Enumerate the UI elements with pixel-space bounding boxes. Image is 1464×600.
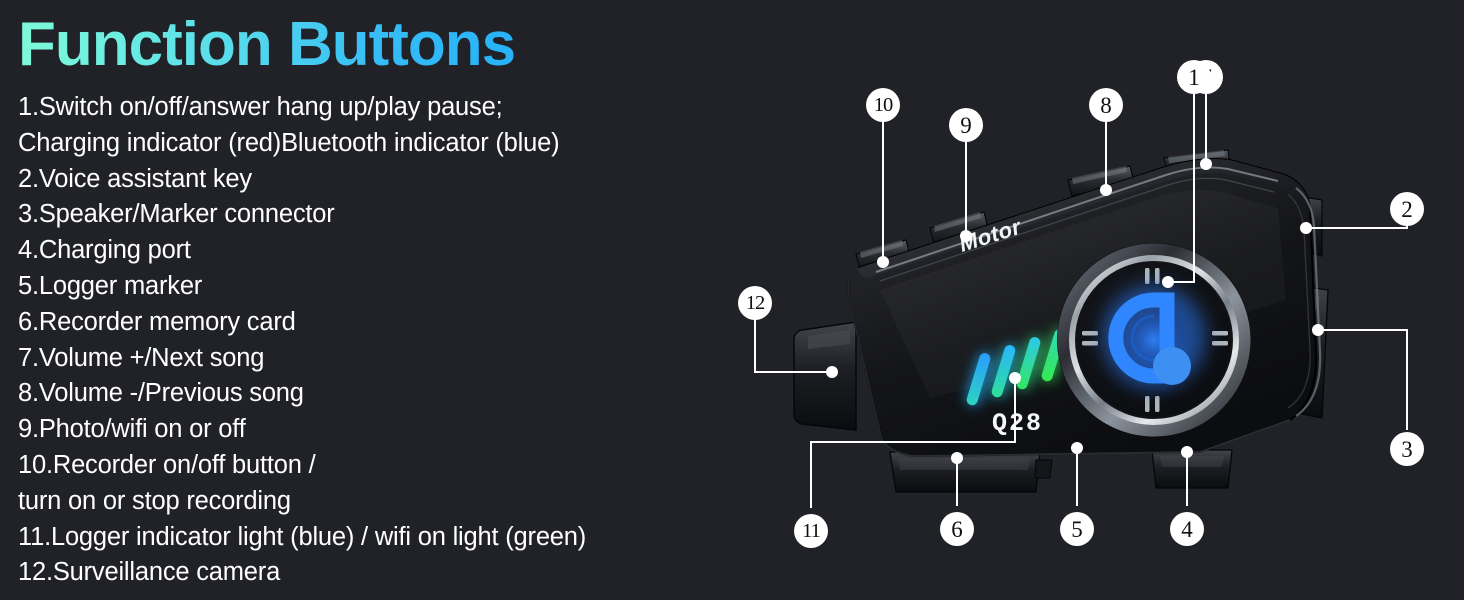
page-title: Function Buttons (18, 14, 515, 76)
text-panel: Function Buttons 1.Switch on/off/answer … (0, 0, 730, 600)
callout-badge-9[interactable]: 9 (949, 108, 983, 142)
callout-badge-11[interactable]: 11 (794, 514, 828, 548)
feature-item-2: 2.Voice assistant key (18, 162, 718, 198)
callout-badge-6[interactable]: 6 (940, 512, 974, 546)
feature-item-12: 12.Surveillance camera (18, 555, 718, 591)
callout-badge-10[interactable]: 10 (866, 88, 900, 122)
product-feature-diagram: Function Buttons 1.Switch on/off/answer … (0, 0, 1464, 600)
feature-item-10: 10.Recorder on/off button / (18, 448, 718, 484)
callout-badge-12[interactable]: 12 (738, 286, 772, 320)
feature-list: 1.Switch on/off/answer hang up/play paus… (18, 90, 718, 591)
callout-badges: 10 9 8 7 1 2 3 4 5 6 11 12 (730, 0, 1464, 600)
product-image: Motor Q28 (730, 0, 1464, 600)
product-panel: Motor Q28 (730, 0, 1464, 600)
feature-item-7: 7.Volume +/Next song (18, 341, 718, 377)
feature-item-8: 8.Volume -/Previous song (18, 376, 718, 412)
feature-item-5: 5.Logger marker (18, 269, 718, 305)
feature-item-1: 1.Switch on/off/answer hang up/play paus… (18, 90, 718, 126)
feature-item-1b: Charging indicator (red)Bluetooth indica… (18, 126, 718, 162)
callout-badge-8[interactable]: 8 (1089, 88, 1123, 122)
callout-badge-2[interactable]: 2 (1390, 192, 1424, 226)
feature-item-9: 9.Photo/wifi on or off (18, 412, 718, 448)
callout-badge-3[interactable]: 3 (1390, 432, 1424, 466)
callout-badge-4[interactable]: 4 (1170, 512, 1204, 546)
callout-badge-5[interactable]: 5 (1060, 512, 1094, 546)
feature-item-10b: turn on or stop recording (18, 484, 718, 520)
feature-item-3: 3.Speaker/Marker connector (18, 197, 718, 233)
feature-item-6: 6.Recorder memory card (18, 305, 718, 341)
feature-item-11: 11.Logger indicator light (blue) / wifi … (18, 520, 718, 556)
callout-badge-1[interactable]: 1 (1177, 60, 1211, 94)
feature-item-4: 4.Charging port (18, 233, 718, 269)
